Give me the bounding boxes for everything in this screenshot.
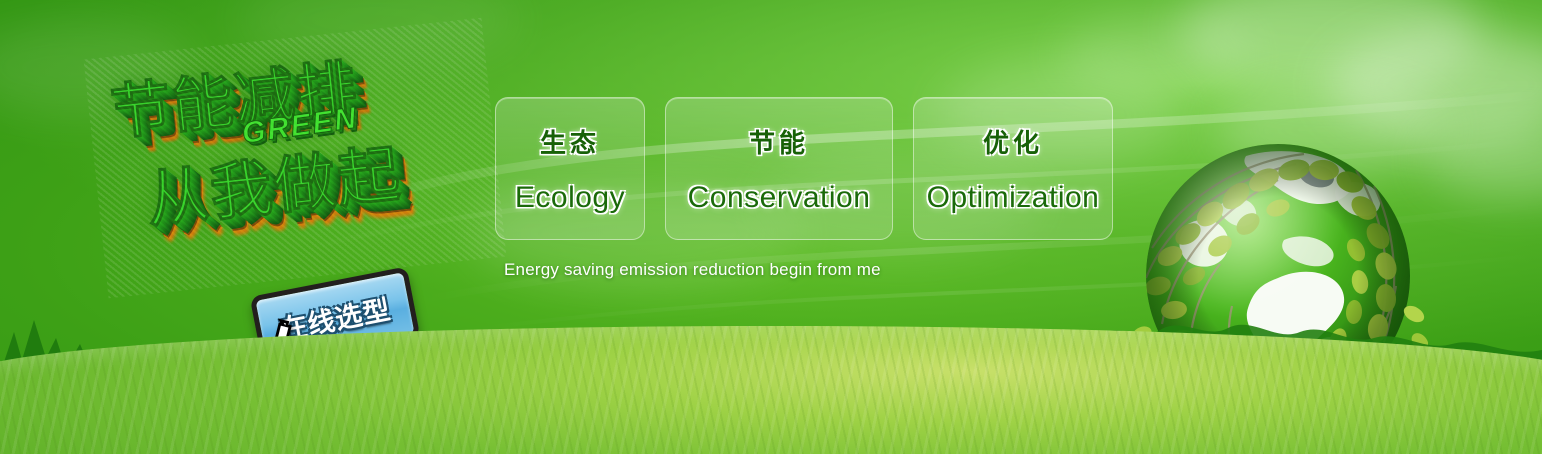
banner-tagline: Energy saving emission reduction begin f…: [504, 260, 881, 280]
grass-field: [0, 326, 1542, 454]
headline-3d: 节能减排 GREEN 从我做起: [84, 18, 507, 298]
feature-card-cn-label: 生态: [540, 123, 600, 160]
feature-card-en-label: Conservation: [688, 181, 871, 215]
feature-card-optimization[interactable]: 优化 Optimization: [913, 97, 1113, 240]
eco-promo-banner: 节能减排 GREEN 从我做起 在线选型 生态 Ecology 节能 Conse…: [0, 0, 1542, 454]
feature-card-list: 生态 Ecology 节能 Conservation 优化 Optimizati…: [495, 97, 1113, 240]
cloud-decoration: [1330, 30, 1542, 140]
feature-card-en-label: Optimization: [927, 181, 1100, 215]
cloud-decoration: [1425, 120, 1542, 200]
feature-card-cn-label: 优化: [983, 123, 1043, 160]
feature-card-conservation[interactable]: 节能 Conservation: [665, 97, 893, 240]
feature-card-en-label: Ecology: [515, 181, 625, 215]
cloud-decoration: [1060, 18, 1250, 93]
cloud-decoration: [1180, 0, 1480, 90]
feature-card-ecology[interactable]: 生态 Ecology: [495, 97, 645, 240]
feature-card-cn-label: 节能: [749, 123, 809, 160]
